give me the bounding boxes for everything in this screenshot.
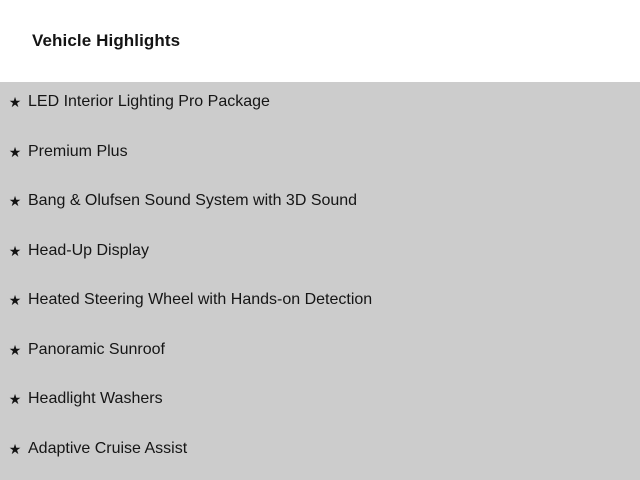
list-item-label: LED Interior Lighting Pro Package bbox=[28, 92, 270, 112]
list-item-label: Headlight Washers bbox=[28, 389, 163, 409]
star-icon: ★ bbox=[8, 94, 22, 110]
page-title: Vehicle Highlights bbox=[32, 31, 180, 51]
list-item-label: Adaptive Cruise Assist bbox=[28, 439, 187, 459]
star-icon: ★ bbox=[8, 292, 22, 308]
list-item[interactable]: ★ Adaptive Cruise Assist bbox=[0, 429, 640, 479]
list-item-label: Heated Steering Wheel with Hands-on Dete… bbox=[28, 290, 372, 310]
list-item[interactable]: ★ Panoramic Sunroof bbox=[0, 330, 640, 380]
list-item-label: Bang & Olufsen Sound System with 3D Soun… bbox=[28, 191, 357, 211]
list-item[interactable]: ★ Premium Plus bbox=[0, 132, 640, 182]
vehicle-highlights-panel: Vehicle Highlights ★ LED Interior Lighti… bbox=[0, 0, 640, 480]
vehicle-highlights-list: ★ LED Interior Lighting Pro Package ★ Pr… bbox=[0, 82, 640, 480]
list-item-label: Premium Plus bbox=[28, 142, 128, 162]
list-item[interactable]: ★ Headlight Washers bbox=[0, 379, 640, 429]
star-icon: ★ bbox=[8, 243, 22, 259]
list-item[interactable]: ★ Head-Up Display bbox=[0, 231, 640, 281]
star-icon: ★ bbox=[8, 391, 22, 407]
list-item[interactable]: ★ LED Interior Lighting Pro Package bbox=[0, 82, 640, 132]
star-icon: ★ bbox=[8, 193, 22, 209]
list-item-label: Head-Up Display bbox=[28, 241, 149, 261]
star-icon: ★ bbox=[8, 441, 22, 457]
star-icon: ★ bbox=[8, 342, 22, 358]
star-icon: ★ bbox=[8, 144, 22, 160]
list-item[interactable]: ★ Heated Steering Wheel with Hands-on De… bbox=[0, 280, 640, 330]
list-item-label: Panoramic Sunroof bbox=[28, 340, 165, 360]
list-item[interactable]: ★ Bang & Olufsen Sound System with 3D So… bbox=[0, 181, 640, 231]
panel-header: Vehicle Highlights bbox=[0, 0, 640, 82]
